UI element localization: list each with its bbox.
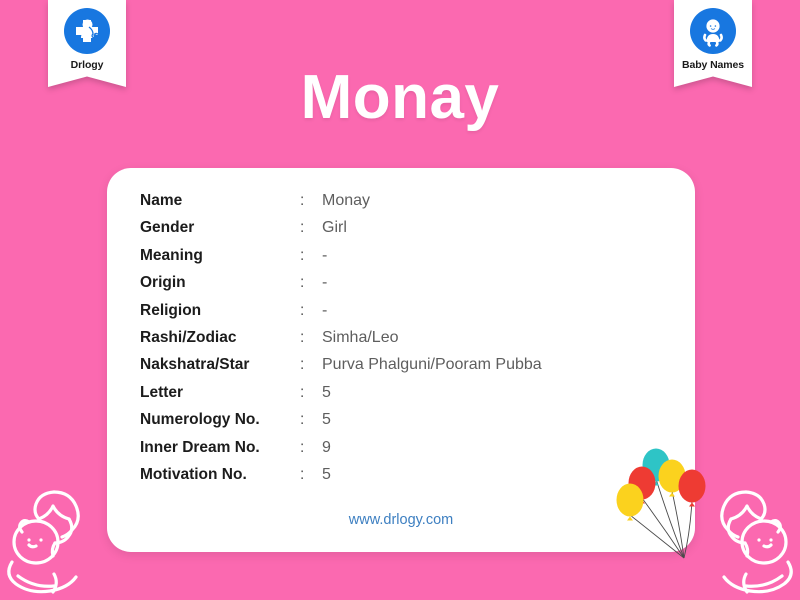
row-label: Inner Dream No. bbox=[140, 439, 300, 457]
doctor-logo-icon bbox=[64, 8, 110, 54]
mother-and-baby-icon bbox=[0, 470, 116, 600]
row-label: Name bbox=[140, 192, 300, 210]
page-title: Monay bbox=[0, 62, 800, 133]
row-separator: : bbox=[300, 384, 322, 402]
table-row: Rashi/Zodiac : Simha/Leo bbox=[140, 329, 542, 356]
row-value: Monay bbox=[322, 192, 370, 210]
row-separator: : bbox=[300, 247, 322, 265]
row-label: Nakshatra/Star bbox=[140, 356, 300, 374]
row-separator: : bbox=[300, 466, 322, 484]
row-separator: : bbox=[300, 329, 322, 347]
row-value: - bbox=[322, 247, 327, 265]
row-value: - bbox=[322, 274, 327, 292]
row-label: Meaning bbox=[140, 247, 300, 265]
site-url-link[interactable]: www.drlogy.com bbox=[107, 512, 695, 528]
row-value: 5 bbox=[322, 384, 331, 402]
row-label: Religion bbox=[140, 302, 300, 320]
row-value: Girl bbox=[322, 219, 347, 237]
row-separator: : bbox=[300, 302, 322, 320]
table-row: Nakshatra/Star : Purva Phalguni/Pooram P… bbox=[140, 356, 542, 383]
baby-logo-icon bbox=[690, 8, 736, 54]
name-details-card: Name : Monay Gender : Girl Meaning : - O… bbox=[107, 168, 695, 552]
table-row: Numerology No. : 5 bbox=[140, 411, 542, 438]
row-label: Letter bbox=[140, 384, 300, 402]
table-row: Letter : 5 bbox=[140, 384, 542, 411]
table-row: Religion : - bbox=[140, 302, 542, 329]
table-row: Name : Monay bbox=[140, 192, 542, 219]
row-separator: : bbox=[300, 356, 322, 374]
row-separator: : bbox=[300, 411, 322, 429]
row-separator: : bbox=[300, 192, 322, 210]
row-value: 9 bbox=[322, 439, 331, 457]
row-label: Numerology No. bbox=[140, 411, 300, 429]
row-label: Motivation No. bbox=[140, 466, 300, 484]
table-row: Inner Dream No. : 9 bbox=[140, 439, 542, 466]
row-separator: : bbox=[300, 219, 322, 237]
row-value: 5 bbox=[322, 411, 331, 429]
row-label: Gender bbox=[140, 219, 300, 237]
row-separator: : bbox=[300, 274, 322, 292]
row-separator: : bbox=[300, 439, 322, 457]
table-row: Gender : Girl bbox=[140, 219, 542, 246]
row-label: Origin bbox=[140, 274, 300, 292]
row-value: Simha/Leo bbox=[322, 329, 399, 347]
mother-and-baby-icon bbox=[684, 470, 800, 600]
table-row: Motivation No. : 5 bbox=[140, 466, 542, 493]
row-value: 5 bbox=[322, 466, 331, 484]
table-row: Origin : - bbox=[140, 274, 542, 301]
row-value: Purva Phalguni/Pooram Pubba bbox=[322, 356, 542, 374]
name-details-table: Name : Monay Gender : Girl Meaning : - O… bbox=[140, 192, 542, 493]
row-label: Rashi/Zodiac bbox=[140, 329, 300, 347]
row-value: - bbox=[322, 302, 327, 320]
table-row: Meaning : - bbox=[140, 247, 542, 274]
